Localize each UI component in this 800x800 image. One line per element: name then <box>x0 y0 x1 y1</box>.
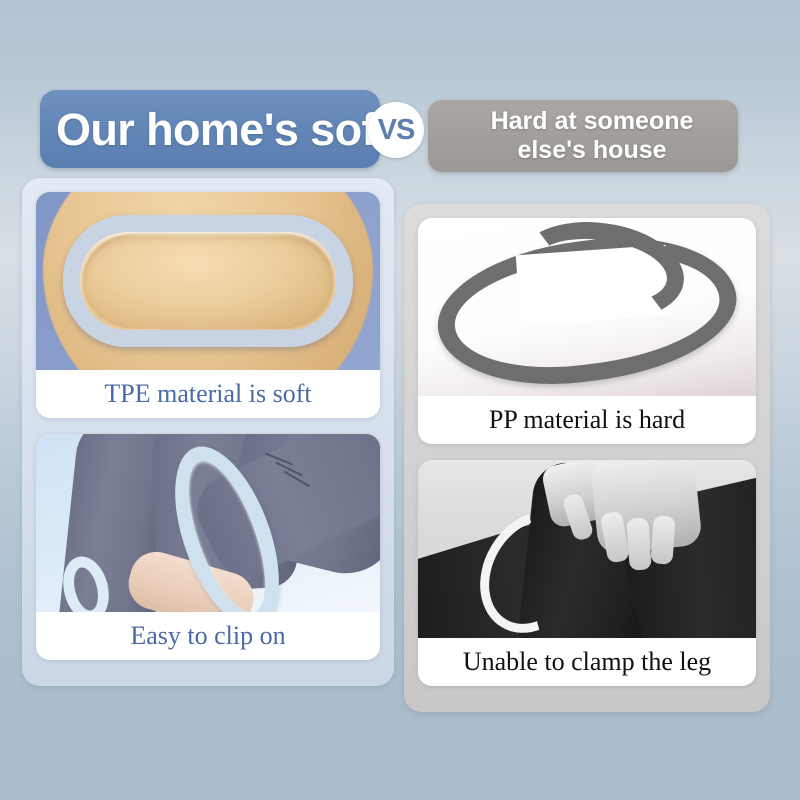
surface-highlight-top <box>148 238 268 284</box>
caption-tpe-material-label: TPE material is soft <box>104 381 311 407</box>
left-comparison-column: TPE material is soft Easy to clip on <box>22 178 394 686</box>
finger-1 <box>561 492 594 542</box>
black-leg-upper-shape <box>613 469 756 638</box>
white-ring-shape <box>459 492 610 638</box>
finger-4 <box>650 515 675 564</box>
product-comparison-infographic: Our home's soft VS Hard at someone else'… <box>0 0 800 800</box>
card-unable-to-clamp: Unable to clamp the leg <box>418 460 756 686</box>
comparison-header: Our home's soft VS Hard at someone else'… <box>0 86 800 186</box>
card-tpe-material: TPE material is soft <box>36 192 380 418</box>
finger-3 <box>626 517 652 570</box>
fabric-crease-1 <box>265 452 294 465</box>
pp-ring-mask <box>516 245 671 325</box>
pp-ring-photo <box>418 218 756 396</box>
leg-thigh-shape <box>149 434 298 594</box>
soft-body-shape <box>43 192 373 370</box>
vs-label: VS <box>378 116 415 145</box>
clip-on-legs-photo <box>36 434 380 612</box>
caption-easy-to-clip: Easy to clip on <box>36 612 380 660</box>
caption-unable-to-clamp-label: Unable to clamp the leg <box>463 649 711 675</box>
vs-badge: VS <box>368 102 424 158</box>
right-title-line-1: Hard at someone <box>491 107 694 135</box>
compressed-surface <box>83 233 333 329</box>
fabric-crease-2 <box>275 462 303 477</box>
caption-pp-material-label: PP material is hard <box>489 407 685 433</box>
leg-calf-shape <box>218 434 380 584</box>
pp-ring-wave <box>511 218 691 331</box>
right-hand-shape <box>589 460 702 555</box>
finger-2 <box>600 510 630 563</box>
forearm-shape <box>122 546 259 612</box>
card-easy-to-clip: Easy to clip on <box>36 434 380 660</box>
caption-pp-material: PP material is hard <box>418 396 756 444</box>
black-leg-far-shape <box>644 547 756 638</box>
left-title-pill: Our home's soft <box>40 90 380 168</box>
right-comparison-column: PP material is hard Unable to clamp the … <box>404 204 770 712</box>
leg-back-shape <box>56 434 176 612</box>
left-title-label: Our home's soft <box>56 107 390 152</box>
right-title-line-2: else's house <box>517 136 666 164</box>
caption-unable-to-clamp: Unable to clamp the leg <box>418 638 756 686</box>
tpe-ring-shape <box>63 215 353 347</box>
black-leg-lower-shape <box>418 481 710 638</box>
surface-highlight-bottom <box>148 292 268 338</box>
pp-ring-shape <box>430 223 745 396</box>
card-pp-material: PP material is hard <box>418 218 756 444</box>
tpe-ring-lower-loop <box>57 552 116 612</box>
tpe-ring-on-leg <box>154 434 300 612</box>
black-leg-thigh-shape <box>516 460 669 638</box>
caption-tpe-material: TPE material is soft <box>36 370 380 418</box>
left-hand-shape <box>540 460 625 529</box>
right-title-label: Hard at someone else's house <box>491 107 694 166</box>
tpe-ring-photo <box>36 192 380 370</box>
right-title-pill: Hard at someone else's house <box>428 100 738 172</box>
unable-to-clamp-photo <box>418 460 756 638</box>
fabric-crease-3 <box>284 471 311 488</box>
leg-shin-shape <box>186 434 380 587</box>
caption-easy-to-clip-label: Easy to clip on <box>130 623 285 649</box>
